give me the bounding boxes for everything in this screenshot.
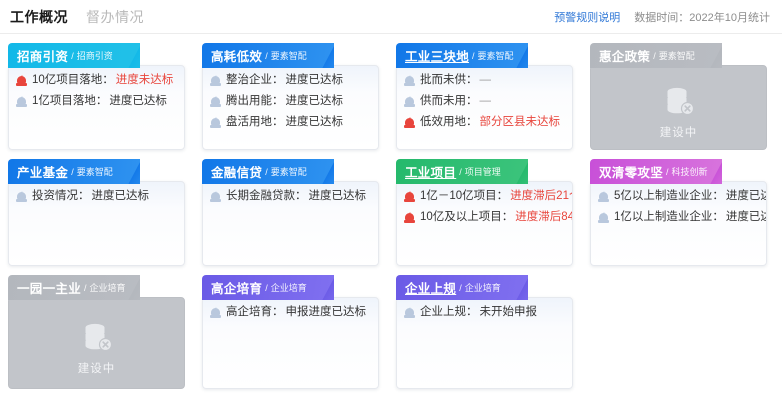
card-title: 金融信贷 [211,162,262,181]
status-item-value: 进度已达标 [726,191,767,203]
status-card[interactable]: 惠企政策/要素智配建设中 [590,43,767,150]
status-card[interactable]: 工业项目/项目管理1亿－10亿项目：进度滞后21个10亿及以上项目：进度滞后84… [396,159,573,266]
card-header-tab[interactable]: 高企培育/企业培育 [202,275,334,300]
card-header-tab[interactable]: 高耗低效/要素智配 [202,43,334,68]
data-time-label: 数据时间：2022年10月统计 [634,9,770,25]
card-subtitle: 企业培育 [271,281,307,294]
status-item-value: 申报进度已达标 [286,307,367,319]
status-item-label: 企业上规： [420,307,478,319]
card-header-tab[interactable]: 金融信贷/要素智配 [202,159,334,184]
card-subtitle: 招商引资 [77,49,113,62]
status-item[interactable]: 供而未用：— [404,96,565,108]
card-header-tab[interactable]: 招商引资/招商引资 [8,43,140,68]
cards-board: 招商引资/招商引资10亿项目落地：进度未达标1亿项目落地：进度已达标高耗低效/要… [0,34,782,389]
card-row: 招商引资/招商引资10亿项目落地：进度未达标1亿项目落地：进度已达标高耗低效/要… [8,43,774,150]
status-card[interactable]: 产业基金/要素智配投资情况：进度已达标 [8,159,185,266]
card-body: 10亿项目落地：进度未达标1亿项目落地：进度已达标 [8,65,185,150]
card-body: 整治企业：进度已达标腾出用能：进度已达标盘活用地：进度已达标 [202,65,379,150]
siren-alert-icon [16,75,27,87]
status-card[interactable]: 高耗低效/要素智配整治企业：进度已达标腾出用能：进度已达标盘活用地：进度已达标 [202,43,379,150]
siren-normal-icon [210,75,221,87]
status-item-label: 5亿以上制造业企业： [614,191,724,203]
status-item[interactable]: 1亿以上制造业企业：进度已达标 [598,212,759,224]
card-header-tab[interactable]: 产业基金/要素智配 [8,159,140,184]
card-header-tab[interactable]: 工业三块地/要素智配 [396,43,528,68]
card-subtitle: 要素智配 [271,49,307,62]
siren-normal-icon [210,307,221,319]
status-item-label: 10亿项目落地： [32,75,114,87]
header-tabs: 工作概况 督办情况 [10,7,144,27]
siren-normal-icon [404,75,415,87]
status-item-value: 进度已达标 [92,191,150,203]
status-card[interactable]: 一园一主业/企业培育建设中 [8,275,185,389]
card-title-separator: / [265,167,268,177]
card-title-separator: / [265,51,268,61]
status-item-label: 1亿以上制造业企业： [614,212,724,224]
siren-normal-icon [210,117,221,129]
card-title-separator: / [459,283,462,293]
card-subtitle: 企业培育 [465,281,501,294]
database-disabled-icon [80,320,114,354]
card-subtitle: 要素智配 [659,49,695,62]
status-item[interactable]: 长期金融贷款：进度已达标 [210,191,371,203]
status-card[interactable]: 工业三块地/要素智配批而未供：—供而未用：—低效用地：部分区县未达标 [396,43,573,150]
status-item-value: 进度已达标 [726,212,767,224]
status-item[interactable]: 投资情况：进度已达标 [16,191,177,203]
card-header-tab[interactable]: 企业上规/企业培育 [396,275,528,300]
status-item-label: 1亿项目落地： [32,96,107,108]
status-item-value: 进度已达标 [286,117,344,129]
tab-work-overview[interactable]: 工作概况 [10,7,68,27]
alert-rule-description-link[interactable]: 预警规则说明 [554,9,620,25]
siren-normal-icon [16,191,27,203]
siren-normal-icon [598,212,609,224]
status-item-label: 投资情况： [32,191,90,203]
status-item[interactable]: 整治企业：进度已达标 [210,75,371,87]
card-title-separator: / [472,51,475,61]
status-item-value: 部分区县未达标 [480,117,561,129]
card-title: 惠企政策 [599,46,650,65]
status-item-value: 进度滞后21个 [510,191,573,203]
card-title: 招商引资 [17,46,68,65]
database-disabled-icon [662,84,696,118]
status-item-value: — [480,75,492,87]
status-item-label: 1亿－10亿项目： [420,191,508,203]
siren-alert-icon [404,212,415,224]
status-item-label: 盘活用地： [226,117,284,129]
under-construction-label: 建设中 [660,124,698,140]
card-title: 一园一主业 [17,278,81,297]
card-body: 5亿以上制造业企业：进度已达标1亿以上制造业企业：进度已达标 [590,181,767,266]
card-row: 一园一主业/企业培育建设中高企培育/企业培育高企培育：申报进度已达标企业上规/企… [8,275,774,389]
status-card[interactable]: 企业上规/企业培育企业上规：未开始申报 [396,275,573,389]
card-subtitle: 要素智配 [77,165,113,178]
status-item[interactable]: 企业上规：未开始申报 [404,307,565,319]
card-title: 企业上规 [405,278,456,297]
card-title-separator: / [666,167,669,177]
card-body: 批而未供：—供而未用：—低效用地：部分区县未达标 [396,65,573,150]
status-item[interactable]: 低效用地：部分区县未达标 [404,117,565,129]
status-item-label: 腾出用能： [226,96,284,108]
siren-normal-icon [404,96,415,108]
status-item-value: 未开始申报 [480,307,538,319]
card-title: 高耗低效 [211,46,262,65]
status-item[interactable]: 1亿－10亿项目：进度滞后21个 [404,191,565,203]
status-item[interactable]: 5亿以上制造业企业：进度已达标 [598,191,759,203]
status-item[interactable]: 腾出用能：进度已达标 [210,96,371,108]
status-item-label: 低效用地： [420,117,478,129]
status-item-value: — [480,96,492,108]
status-item-label: 批而未供： [420,75,478,87]
status-card[interactable]: 双清零攻坚/科技创新5亿以上制造业企业：进度已达标1亿以上制造业企业：进度已达标 [590,159,767,266]
card-body: 高企培育：申报进度已达标 [202,297,379,389]
siren-normal-icon [16,96,27,108]
grid-spacer [590,275,767,389]
card-title: 双清零攻坚 [599,162,663,181]
status-item[interactable]: 1亿项目落地：进度已达标 [16,96,177,108]
card-subtitle: 科技创新 [672,165,708,178]
status-item-value: 进度已达标 [286,96,344,108]
siren-alert-icon [404,191,415,203]
card-title: 工业项目 [405,162,456,181]
siren-alert-icon [404,117,415,129]
card-subtitle: 项目管理 [465,165,501,178]
status-item-label: 整治企业： [226,75,284,87]
card-title: 高企培育 [211,278,262,297]
status-item[interactable]: 10亿项目落地：进度未达标 [16,75,177,87]
status-item-value: 进度已达标 [309,191,367,203]
card-title-separator: / [71,51,74,61]
tab-supervision-status[interactable]: 督办情况 [86,7,144,27]
card-body: 企业上规：未开始申报 [396,297,573,389]
status-item-value: 进度未达标 [116,75,174,87]
card-title-separator: / [84,283,87,293]
card-row: 产业基金/要素智配投资情况：进度已达标金融信贷/要素智配长期金融贷款：进度已达标… [8,159,774,266]
status-item[interactable]: 批而未供：— [404,75,565,87]
status-item-value: 进度已达标 [109,96,167,108]
status-item-label: 高企培育： [226,307,284,319]
siren-normal-icon [598,191,609,203]
card-title: 产业基金 [17,162,68,181]
status-item-label: 10亿及以上项目： [420,212,513,224]
card-subtitle: 要素智配 [271,165,307,178]
status-card[interactable]: 金融信贷/要素智配长期金融贷款：进度已达标 [202,159,379,266]
status-item-label: 长期金融贷款： [226,191,307,203]
card-body: 建设中 [590,65,767,150]
status-card[interactable]: 招商引资/招商引资10亿项目落地：进度未达标1亿项目落地：进度已达标 [8,43,185,150]
card-body: 建设中 [8,297,185,389]
card-body: 投资情况：进度已达标 [8,181,185,266]
top-header-bar: 工作概况 督办情况 预警规则说明 数据时间：2022年10月统计 [0,0,782,34]
card-header-tab[interactable]: 一园一主业/企业培育 [8,275,140,300]
card-title-separator: / [459,167,462,177]
status-card[interactable]: 高企培育/企业培育高企培育：申报进度已达标 [202,275,379,389]
status-item[interactable]: 盘活用地：进度已达标 [210,117,371,129]
siren-normal-icon [210,96,221,108]
siren-normal-icon [210,191,221,203]
card-title-separator: / [265,283,268,293]
status-item-value: 进度滞后84个 [515,212,573,224]
card-title-separator: / [653,51,656,61]
siren-normal-icon [404,307,415,319]
status-item[interactable]: 高企培育：申报进度已达标 [210,307,371,319]
card-header-tab[interactable]: 工业项目/项目管理 [396,159,528,184]
card-subtitle: 企业培育 [90,281,126,294]
status-item-label: 供而未用： [420,96,478,108]
card-title: 工业三块地 [405,46,469,65]
card-body: 1亿－10亿项目：进度滞后21个10亿及以上项目：进度滞后84个 [396,181,573,266]
card-subtitle: 要素智配 [478,49,514,62]
under-construction-label: 建设中 [78,360,116,376]
status-item-value: 进度已达标 [286,75,344,87]
status-item[interactable]: 10亿及以上项目：进度滞后84个 [404,212,565,224]
header-right-group: 预警规则说明 数据时间：2022年10月统计 [554,9,770,25]
card-title-separator: / [71,167,74,177]
card-header-tab[interactable]: 双清零攻坚/科技创新 [590,159,722,184]
card-header-tab[interactable]: 惠企政策/要素智配 [590,43,722,68]
card-body: 长期金融贷款：进度已达标 [202,181,379,266]
